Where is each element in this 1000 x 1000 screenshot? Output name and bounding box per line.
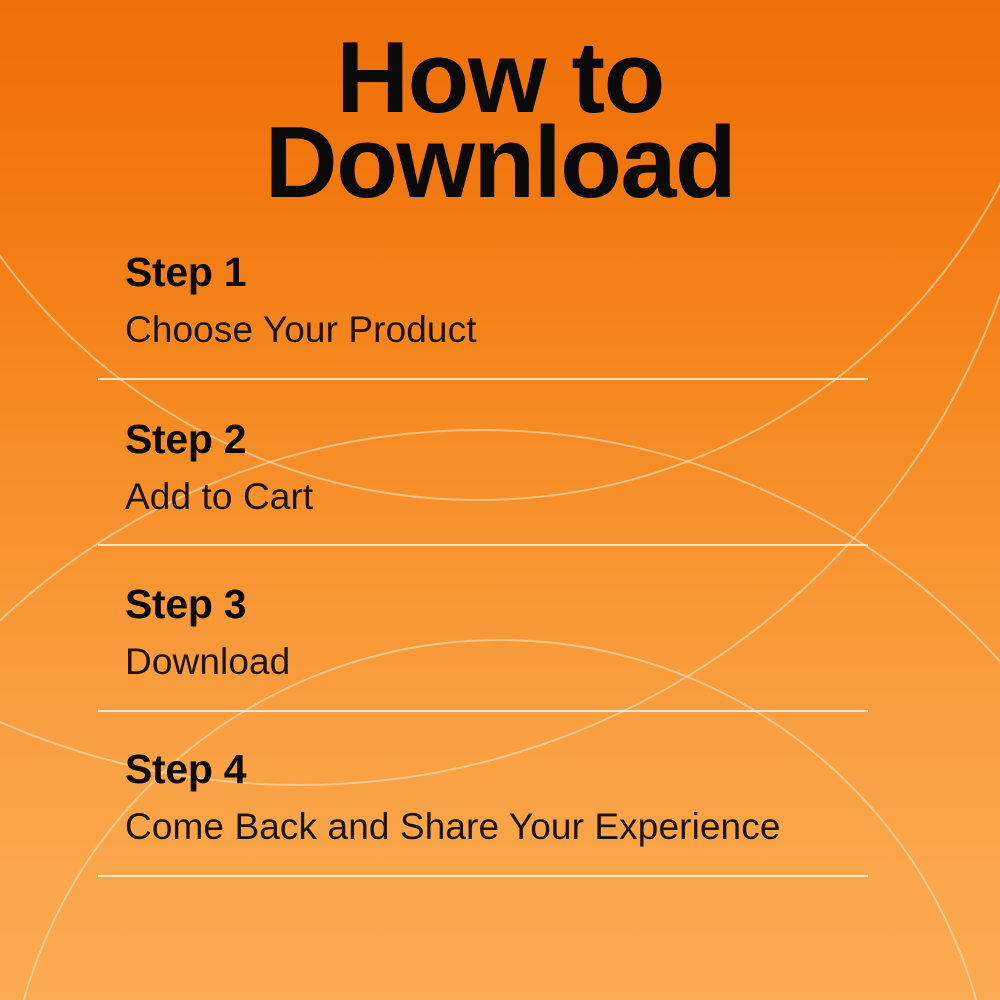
step-description: Choose Your Product [125,311,878,348]
step-title: Step 4 [125,749,878,790]
list-item: Step 2 Add to Cart [98,419,878,515]
step-title: Step 3 [125,584,878,625]
how-to-download-graphic: How to Download Step 1 Choose Your Produ… [0,0,1000,1000]
step-title: Step 1 [125,252,878,293]
steps-list: Step 1 Choose Your Product Step 2 Add to… [0,0,1000,1000]
step-description: Download [125,643,878,680]
list-item: Step 3 Download [98,584,878,680]
divider [98,378,868,380]
step-title: Step 2 [125,419,878,460]
list-item: Step 1 Choose Your Product [98,252,878,348]
list-item: Step 4 Come Back and Share Your Experien… [98,749,878,845]
divider [98,710,868,712]
step-description: Add to Cart [125,478,878,515]
step-description: Come Back and Share Your Experience [125,808,878,845]
divider [98,875,868,877]
divider [98,544,868,546]
